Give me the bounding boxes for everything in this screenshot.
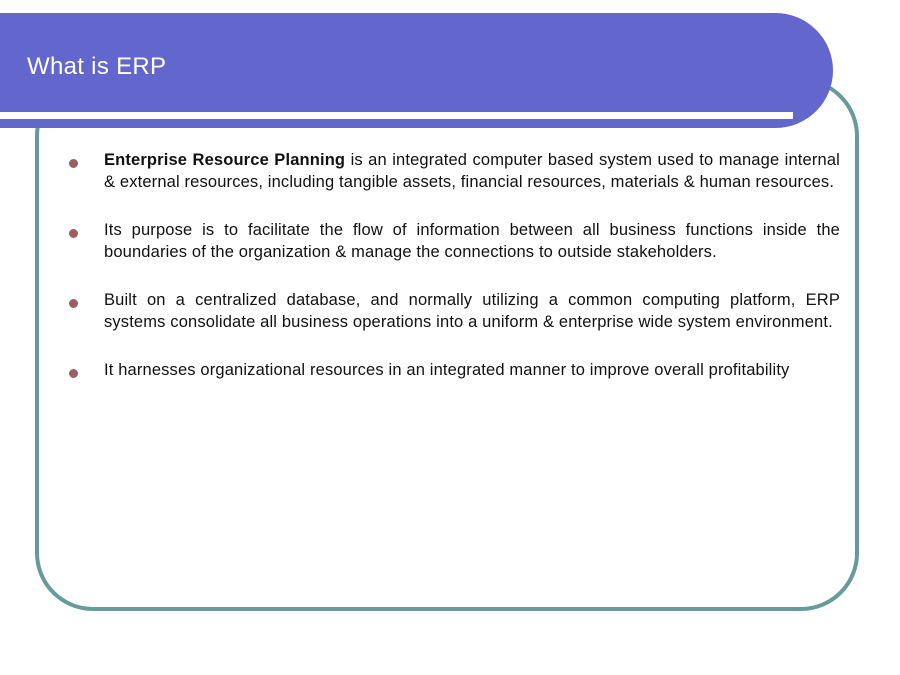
title-underline-rule bbox=[0, 112, 793, 119]
bullet-text-4: It harnesses organizational resources in… bbox=[104, 360, 840, 382]
bullet-dot-icon bbox=[69, 229, 78, 238]
presentation-slide: What is ERP Enterprise Resource Planning… bbox=[0, 0, 900, 675]
bullet-text-3: Built on a centralized database, and nor… bbox=[104, 290, 840, 333]
list-item: Its purpose is to facilitate the flow of… bbox=[60, 220, 840, 263]
list-item: Enterprise Resource Planning is an integ… bbox=[60, 150, 840, 193]
bullet-text-1: Enterprise Resource Planning is an integ… bbox=[104, 150, 840, 193]
slide-title: What is ERP bbox=[27, 52, 166, 82]
list-item: Built on a centralized database, and nor… bbox=[60, 290, 840, 333]
slide-body: Enterprise Resource Planning is an integ… bbox=[60, 150, 840, 382]
bullet-dot-icon bbox=[69, 159, 78, 168]
bullet-text-2: Its purpose is to facilitate the flow of… bbox=[104, 220, 840, 263]
list-item: It harnesses organizational resources in… bbox=[60, 360, 840, 382]
bullet-dot-icon bbox=[69, 369, 78, 378]
bullet-lead-bold-1: Enterprise Resource Planning bbox=[104, 151, 345, 169]
bullet-dot-icon bbox=[69, 299, 78, 308]
